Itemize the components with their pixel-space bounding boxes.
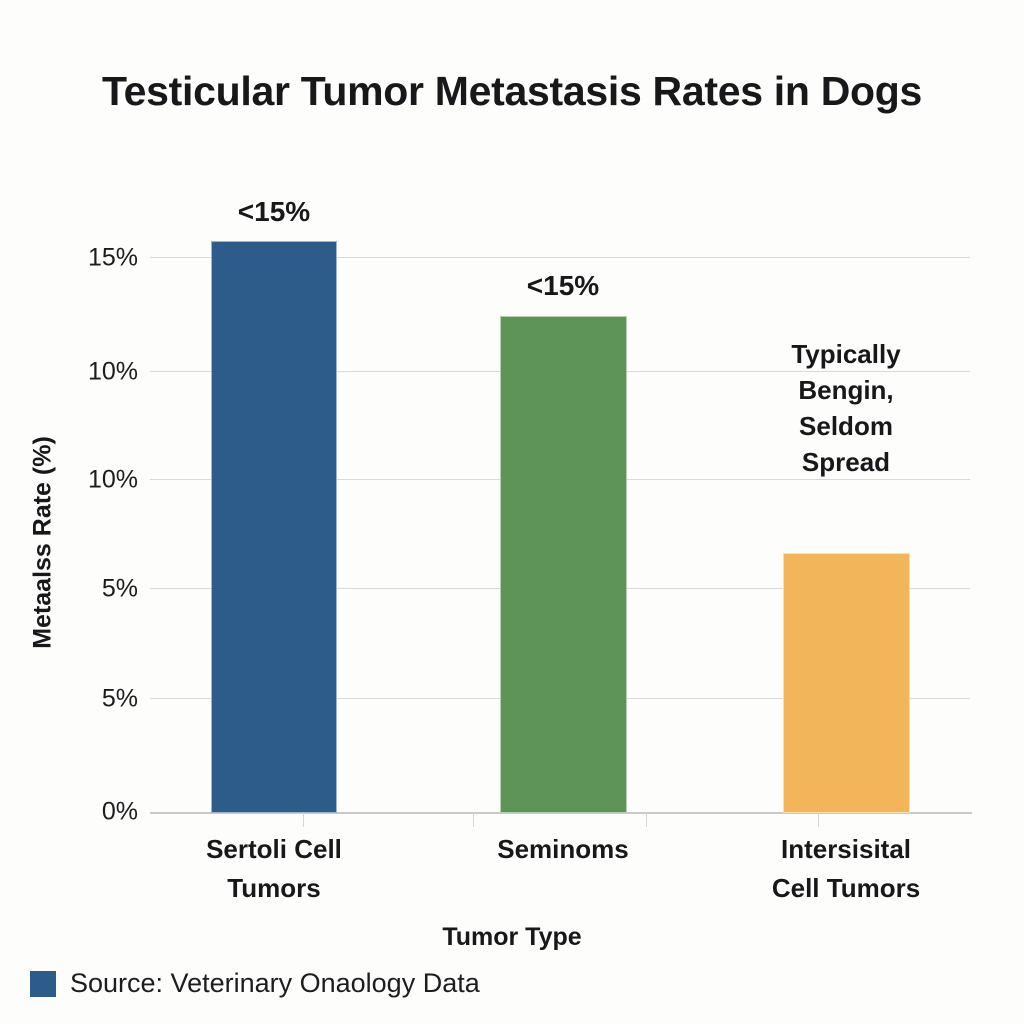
- bar-sertoli-cell-tumors[interactable]: [211, 241, 337, 813]
- y-tick-label-4: 5%: [18, 685, 138, 714]
- bar-annotation-intersisital: Typically Bengin, Seldom Spread: [766, 336, 926, 480]
- y-tick-label-5: 0%: [18, 798, 138, 827]
- bar-intersisital-cell-tumors[interactable]: [783, 553, 910, 813]
- legend-source-label: Source: Veterinary Onaology Data: [70, 968, 480, 999]
- x-tick-mark-2: [473, 813, 474, 827]
- annotation-line-3: Seldom: [766, 408, 926, 444]
- bar-chart-figure: Testicular Tumor Metastasis Rates in Dog…: [0, 0, 1024, 1024]
- legend: Source: Veterinary Onaology Data: [30, 968, 480, 999]
- x-category-line-1: Seminoms: [453, 830, 673, 869]
- y-axis-tick-labels: 15% 10% 10% 5% 5% 0%: [0, 0, 138, 1024]
- legend-color-swatch: [30, 971, 56, 997]
- y-tick-label-0: 15%: [18, 244, 138, 273]
- y-axis-title: Metaalss Rate (%): [29, 413, 58, 673]
- x-tick-mark-3: [646, 813, 647, 827]
- chart-title: Testicular Tumor Metastasis Rates in Dog…: [0, 68, 1024, 115]
- annotation-line-4: Spread: [766, 444, 926, 480]
- x-category-line-1: Intersisital: [736, 830, 956, 869]
- x-category-line-1: Sertoli Cell: [164, 830, 384, 869]
- x-axis-title: Tumor Type: [0, 923, 1024, 952]
- y-tick-label-1: 10%: [18, 358, 138, 387]
- x-tick-mark-4: [818, 813, 819, 827]
- x-category-label-intersisital: Intersisital Cell Tumors: [736, 830, 956, 908]
- x-category-line-2: Cell Tumors: [736, 869, 956, 908]
- x-category-label-seminoms: Seminoms: [453, 830, 673, 869]
- bar-value-label-1: <15%: [194, 196, 354, 228]
- annotation-line-1: Typically: [766, 336, 926, 372]
- x-category-line-2: Tumors: [164, 869, 384, 908]
- bar-seminoms[interactable]: [500, 316, 627, 813]
- x-tick-mark-1: [303, 813, 304, 827]
- annotation-line-2: Bengin,: [766, 372, 926, 408]
- bar-value-label-2: <15%: [483, 270, 643, 302]
- x-category-label-sertoli: Sertoli Cell Tumors: [164, 830, 384, 908]
